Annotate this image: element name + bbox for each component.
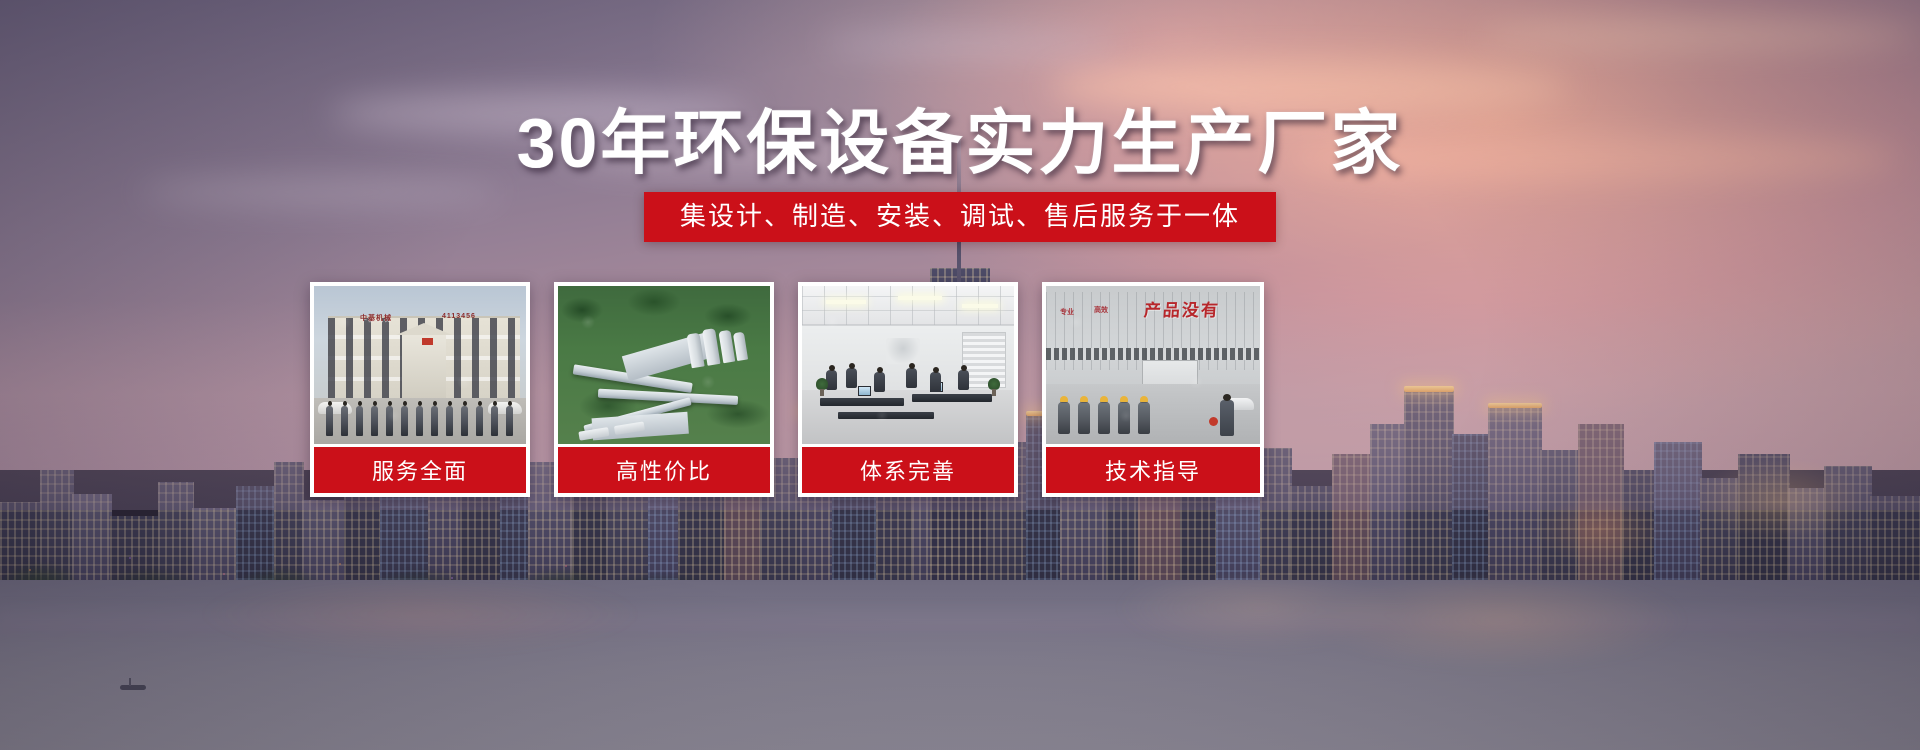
feature-card-value[interactable]: 高性价比 <box>554 282 774 497</box>
banner-subtitle-bar: 集设计、制造、安装、调试、售后服务于一体 <box>644 192 1276 242</box>
flag-icon <box>422 338 433 345</box>
building-sign-text: 中基机械 <box>360 313 392 323</box>
feature-card-service[interactable]: 中基机械 4113456 <box>310 282 530 497</box>
hero-banner: 30年环保设备实力生产厂家 集设计、制造、安装、调试、售后服务于一体 中基机械 … <box>0 0 1920 750</box>
card-photo-factory-exterior: 产品没有 专业 高效 <box>1046 286 1260 444</box>
card-caption-value: 高性价比 <box>558 444 770 493</box>
banner-headline: 30年环保设备实力生产厂家 <box>0 108 1920 178</box>
card-caption-system: 体系完善 <box>802 444 1014 493</box>
wall-slogan-main: 产品没有 <box>1143 296 1221 321</box>
wall-slogan-mid: 高效 <box>1094 306 1108 315</box>
feature-card-row: 中基机械 4113456 <box>310 282 1550 497</box>
feature-card-system[interactable]: 体系完善 <box>798 282 1018 497</box>
card-photo-office-interior <box>802 286 1014 444</box>
building-sign-phone: 4113456 <box>442 313 476 320</box>
wall-logo <box>886 338 920 364</box>
card-photo-aerial-plant <box>558 286 770 444</box>
supervisor <box>1220 400 1234 436</box>
banner-content: 30年环保设备实力生产厂家 集设计、制造、安装、调试、售后服务于一体 中基机械 … <box>0 0 1920 750</box>
feature-card-guidance[interactable]: 产品没有 专业 高效 <box>1042 282 1264 497</box>
wall-slogan-left: 专业 <box>1060 308 1074 317</box>
card-caption-service: 服务全面 <box>314 444 526 493</box>
card-caption-guidance: 技术指导 <box>1046 444 1260 493</box>
staff-lineup <box>326 400 522 436</box>
card-photo-office-building: 中基机械 4113456 <box>314 286 526 444</box>
red-helmet <box>1209 417 1218 426</box>
